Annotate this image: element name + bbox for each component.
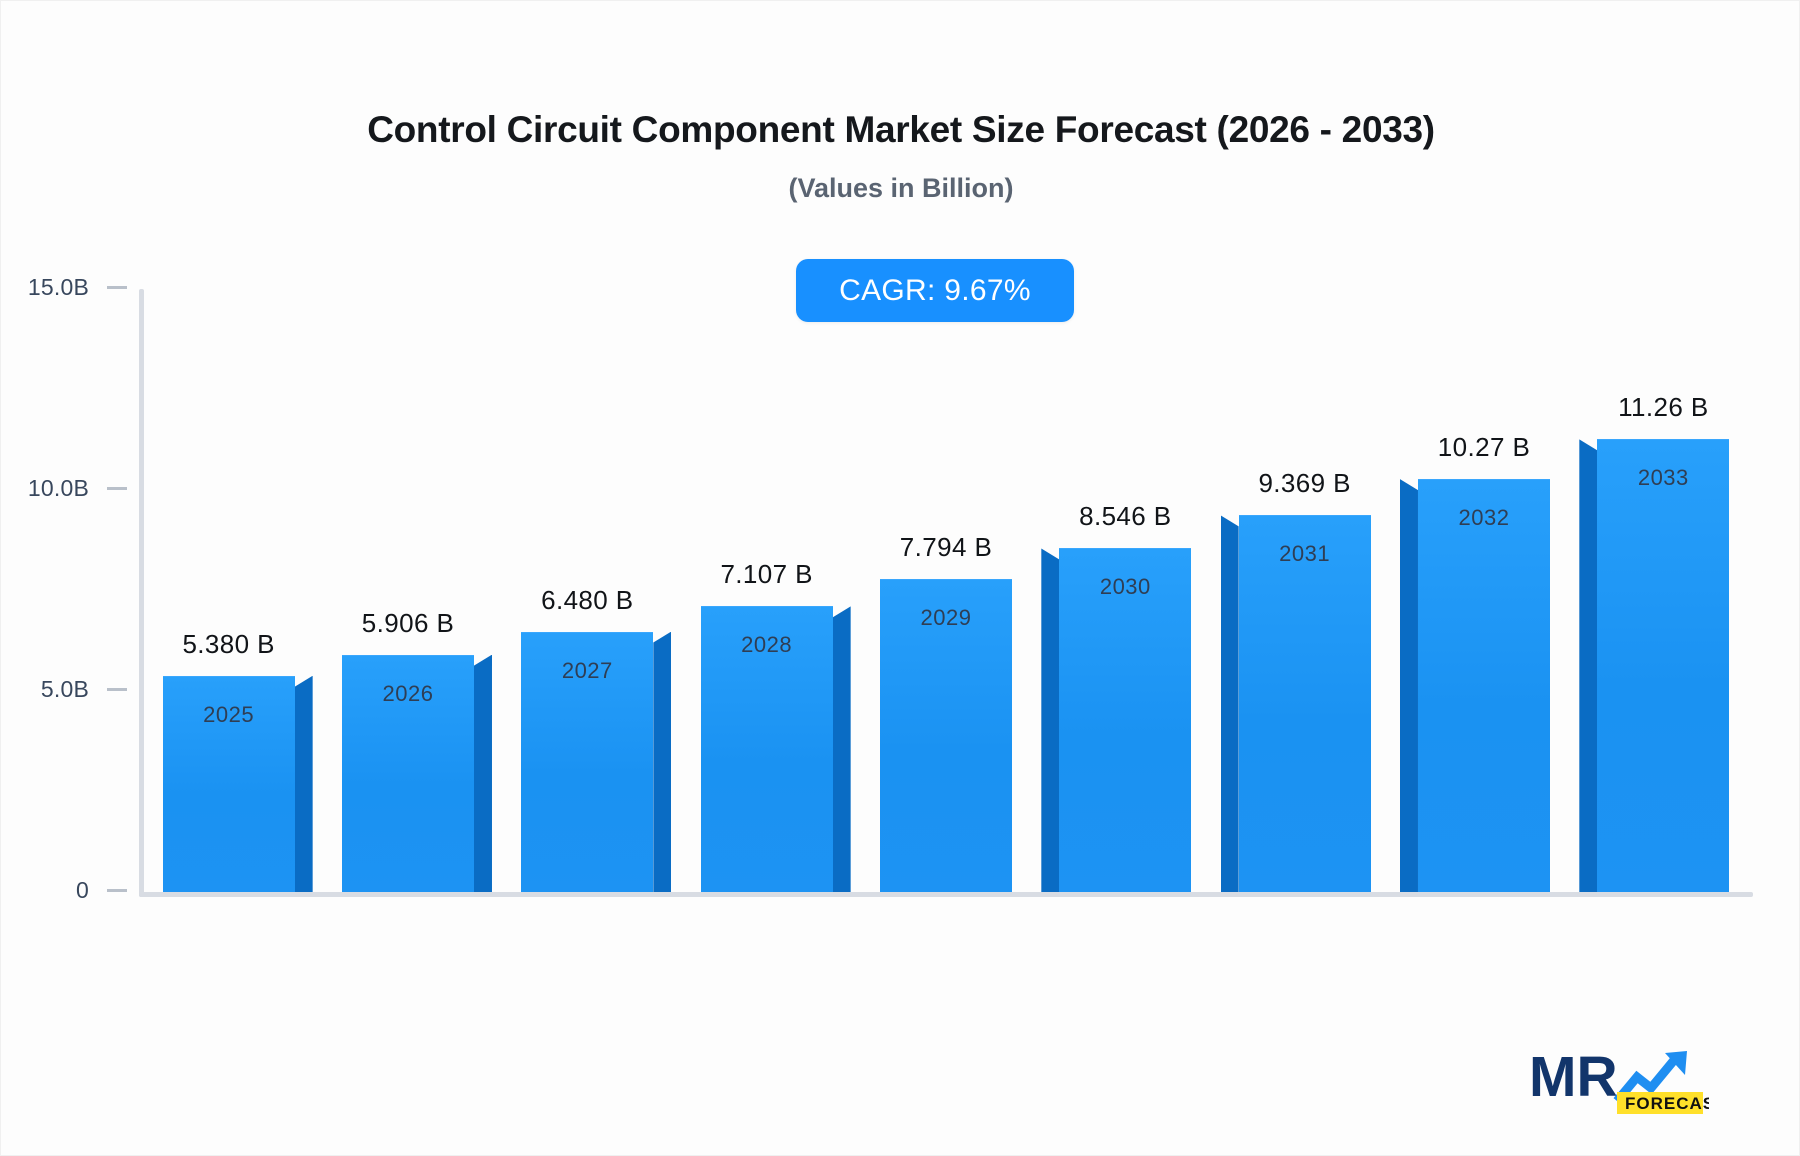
chart-title: Control Circuit Component Market Size Fo…: [1, 109, 1800, 151]
bar-group[interactable]: 7.107 B2028: [677, 606, 856, 892]
bar-value-label: 8.546 B: [1079, 501, 1171, 532]
logo-mark-text: MR: [1529, 1045, 1618, 1109]
bar-side-face: [833, 606, 851, 892]
bar-group[interactable]: 6.480 B2027: [498, 632, 677, 892]
bar-value-label: 11.26 B: [1618, 392, 1709, 423]
bar-side-face: [1400, 479, 1418, 892]
bar-front-face: [1597, 439, 1729, 892]
x-axis-category-label: 2028: [741, 632, 792, 658]
bar-side-face: [653, 632, 671, 892]
x-axis-category-label: 2033: [1638, 465, 1689, 491]
bar-value-label: 7.107 B: [720, 559, 812, 590]
bar-group[interactable]: 11.26 B2033: [1574, 439, 1753, 892]
bar-group[interactable]: 9.369 B2031: [1215, 515, 1394, 892]
bar-value-label: 6.480 B: [541, 585, 633, 616]
bar-group[interactable]: 10.27 B2032: [1394, 479, 1573, 892]
bar-group[interactable]: 5.380 B2025: [139, 676, 318, 892]
bar-side-face: [1041, 548, 1059, 892]
bar-value-label: 5.906 B: [362, 608, 454, 639]
y-axis-tick-label: 0: [76, 877, 89, 904]
bar-side-face: [1579, 439, 1597, 892]
bar-group[interactable]: 8.546 B2030: [1036, 548, 1215, 892]
bar-value-label: 5.380 B: [182, 629, 274, 660]
y-axis-tick-label: 15.0B: [28, 274, 89, 301]
bar-side-face: [474, 655, 492, 892]
y-axis-tick-dash: [107, 286, 127, 289]
bar-side-face: [1221, 515, 1239, 892]
y-axis-tick-dash: [107, 487, 127, 490]
x-axis-category-label: 2032: [1459, 505, 1510, 531]
bar-value-label: 9.369 B: [1258, 468, 1350, 499]
y-axis-tick-label: 10.0B: [28, 475, 89, 502]
bar-group[interactable]: 5.906 B2026: [318, 655, 497, 892]
y-axis-tick-dash: [107, 688, 127, 691]
plot-area: 15.0B10.0B5.0B0 5.380 B20255.906 B20266.…: [139, 289, 1753, 897]
bar-front-face: [1239, 515, 1371, 892]
bar-value-label: 10.27 B: [1438, 432, 1530, 463]
mr-forecast-logo: MR FORECAST: [1529, 1039, 1709, 1117]
x-axis-category-label: 2029: [921, 605, 972, 631]
logo-tagline-text: FORECAST: [1625, 1094, 1709, 1113]
y-axis-tick: 15.0B: [0, 274, 139, 301]
x-axis-line: [139, 892, 1753, 897]
x-axis-category-label: 2027: [562, 658, 613, 684]
y-axis-tick: 10.0B: [0, 475, 139, 502]
bar-side-face: [295, 676, 313, 892]
y-axis-tick: 0: [0, 877, 139, 904]
x-axis-category-label: 2025: [203, 702, 254, 728]
bar[interactable]: 10.27 B: [1418, 479, 1550, 892]
x-axis-category-label: 2026: [383, 681, 434, 707]
bar-group[interactable]: 7.794 B2029: [856, 579, 1035, 892]
logo-svg: MR FORECAST: [1529, 1039, 1709, 1117]
chart-subtitle: (Values in Billion): [1, 173, 1800, 204]
bar-front-face: [1418, 479, 1550, 892]
y-axis-tick-label: 5.0B: [41, 676, 89, 703]
x-axis-category-label: 2031: [1279, 541, 1330, 567]
x-axis-category-label: 2030: [1100, 574, 1151, 600]
bar[interactable]: 9.369 B: [1239, 515, 1371, 892]
chart-container: Control Circuit Component Market Size Fo…: [0, 0, 1800, 1156]
y-axis-tick: 5.0B: [0, 676, 139, 703]
bar[interactable]: 11.26 B: [1597, 439, 1729, 892]
y-axis-tick-dash: [107, 889, 127, 892]
bar-value-label: 7.794 B: [900, 532, 992, 563]
